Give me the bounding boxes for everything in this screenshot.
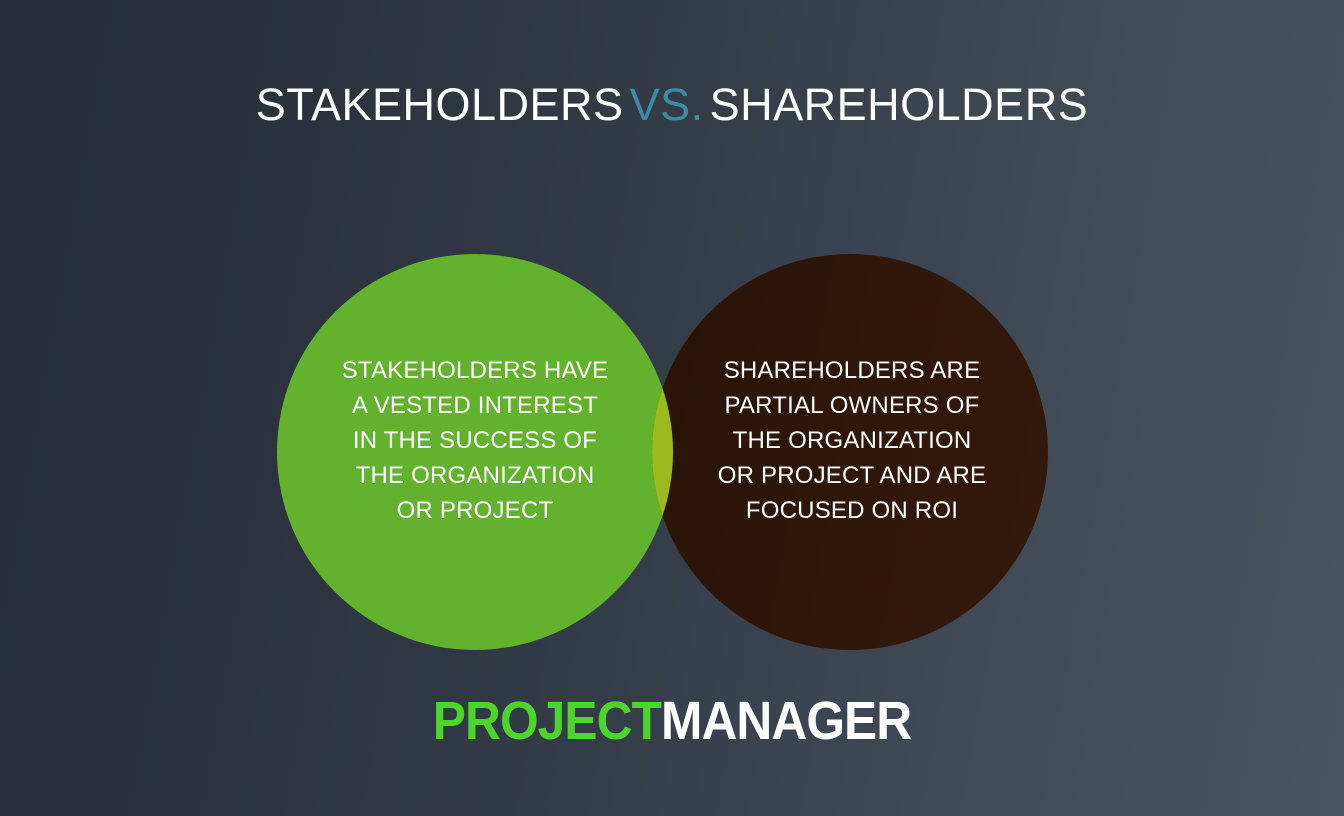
brand-logo: PROJECTMANAGER (54, 690, 1290, 752)
logo-word-manager: MANAGER (661, 691, 911, 751)
infographic-canvas: STAKEHOLDERSVS.SHAREHOLDERS STAKEHOLDERS… (0, 0, 1344, 816)
venn-text-stakeholders: STAKEHOLDERS HAVE A VESTED INTEREST IN T… (305, 353, 645, 528)
venn-text-shareholders: SHAREHOLDERS ARE PARTIAL OWNERS OF THE O… (682, 353, 1022, 528)
logo-word-project: PROJECT (433, 691, 661, 751)
